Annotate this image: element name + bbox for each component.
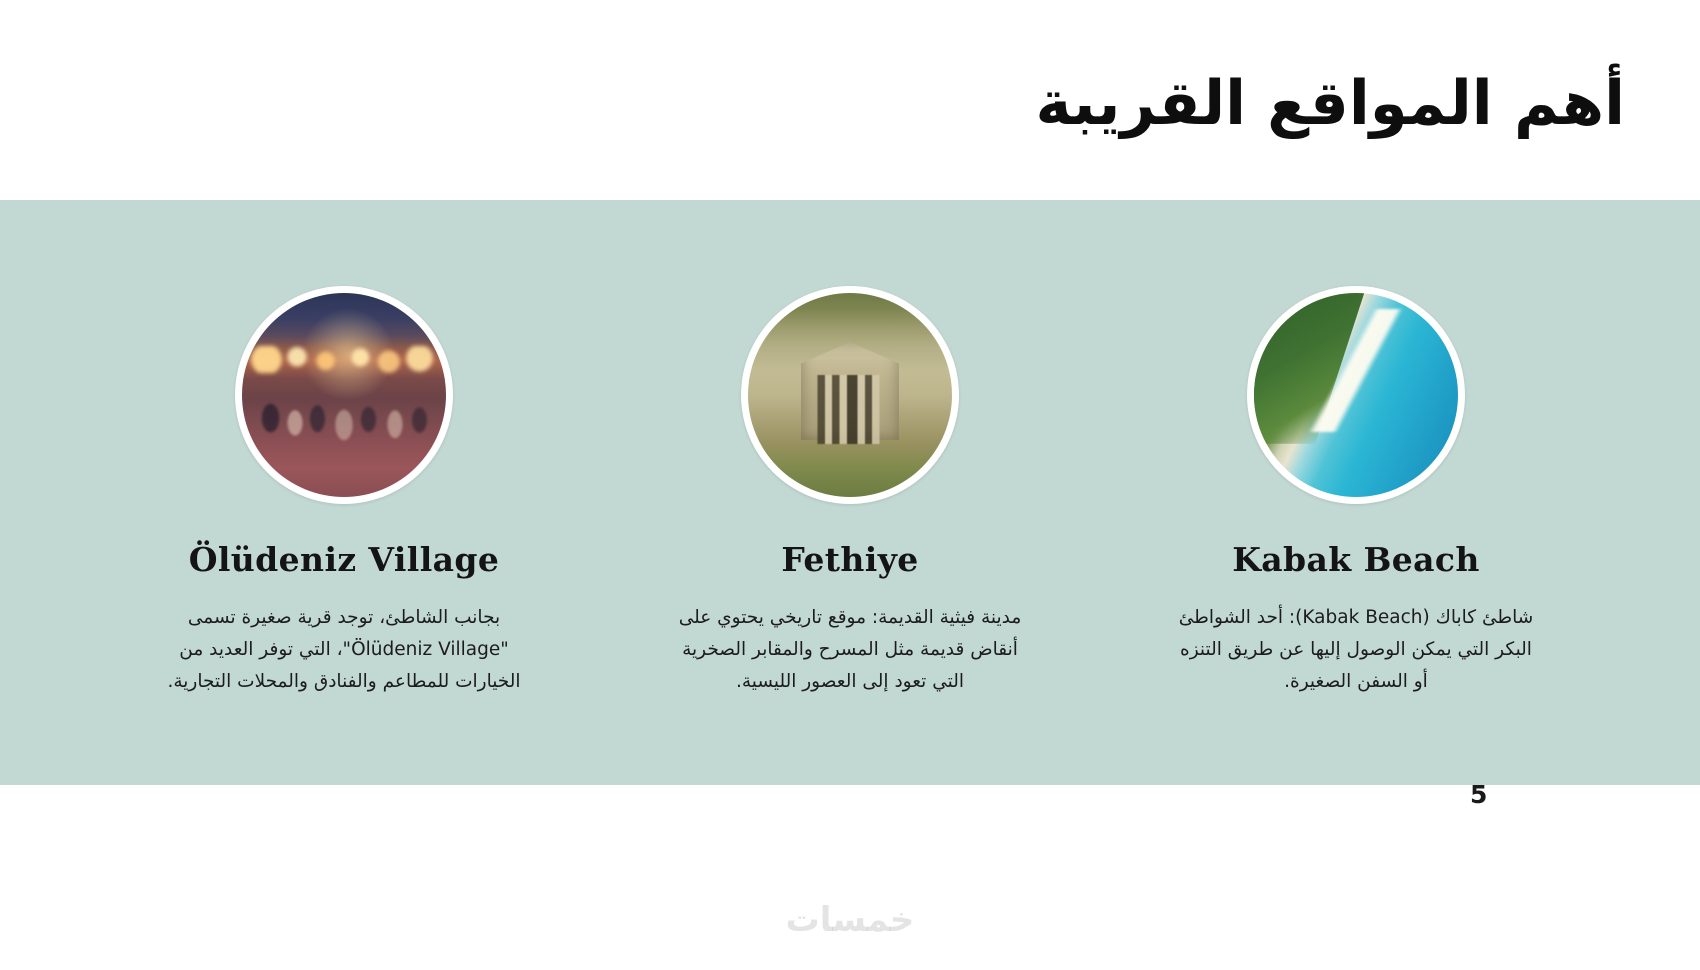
photo-frame-fethiye [741,286,959,504]
card-title-oludeniz-village: Ölüdeniz Village [189,542,500,578]
page-title: أهم المواقع القريبة [1036,66,1625,142]
card-title-fethiye: Fethiye [781,542,918,578]
page-number: 5 [1470,780,1487,809]
card-body-fethiye: مدينة فيثية القديمة: موقع تاريخي يحتوي ع… [670,602,1030,697]
photo-frame-oludeniz [235,286,453,504]
kabak-beach-photo [1254,293,1458,497]
card-oludeniz-village[interactable]: Ölüdeniz Village بجانب الشاطئ، توجد قرية… [129,286,559,698]
content-panel: Ölüdeniz Village بجانب الشاطئ، توجد قرية… [0,200,1700,785]
cards-row: Ölüdeniz Village بجانب الشاطئ، توجد قرية… [0,200,1700,785]
card-body-oludeniz-village: بجانب الشاطئ، توجد قرية صغيرة تسمى "Ölüd… [164,602,524,697]
card-title-kabak-beach: Kabak Beach [1232,542,1480,578]
title-zone: أهم المواقع القريبة [0,0,1700,200]
fethiye-rock-tombs-photo [748,293,952,497]
card-kabak-beach[interactable]: Kabak Beach شاطئ كاباك (Kabak Beach): أح… [1141,286,1571,698]
slide-root: أهم المواقع القريبة Ölüdeniz Village بجا… [0,0,1700,970]
card-body-kabak-beach: شاطئ كاباك (Kabak Beach): أحد الشواطئ ال… [1176,602,1536,697]
photo-frame-kabak-beach [1247,286,1465,504]
watermark: خمسات [0,900,1700,940]
oludeniz-village-photo [242,293,446,497]
card-fethiye[interactable]: Fethiye مدينة فيثية القديمة: موقع تاريخي… [635,286,1065,698]
